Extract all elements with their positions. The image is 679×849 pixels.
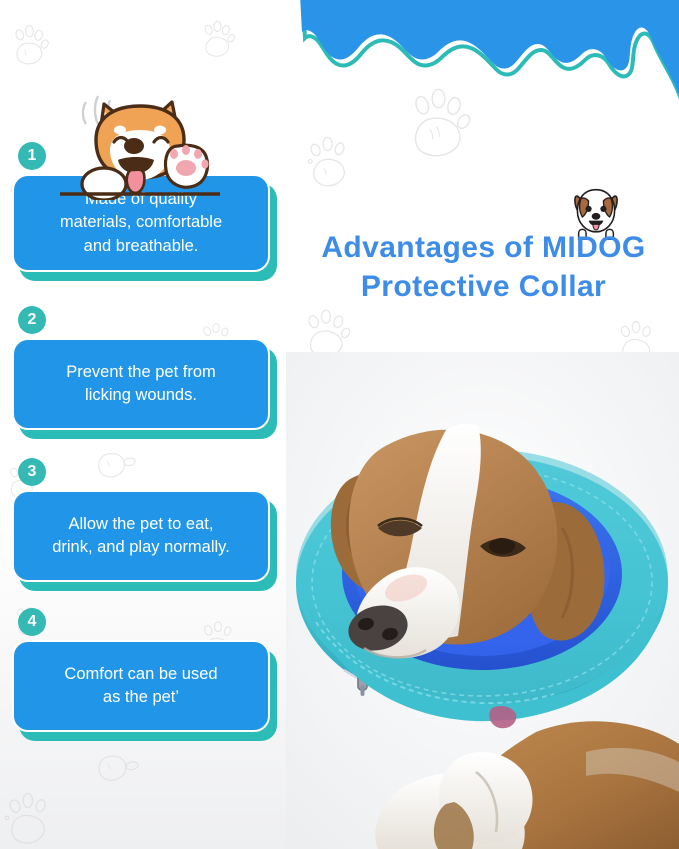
page-title: Advantages of MIDOG Protective Collar [288,228,679,306]
feature-text-line: as the pet’ [64,686,217,709]
feature-text-line: Prevent the pet from [66,361,216,384]
shiba-inu-dog-icon [60,88,220,200]
feature-item-4: 4 Comfort can be used as the pet’ [12,608,270,732]
feature-card-stack: Prevent the pet from licking wounds. [12,338,270,430]
paw-print-watermark [86,742,146,796]
title-line-1: Advantages of MIDOG [288,228,679,267]
feature-card[interactable]: Comfort can be used as the pet’ [12,640,270,732]
feature-text-line: drink, and play normally. [52,536,230,559]
feature-text-line: Comfort can be used [64,663,217,686]
feature-text-line: and breathable. [60,235,222,258]
feature-text-line: Allow the pet to eat, [52,513,230,536]
feature-card[interactable]: Allow the pet to eat, drink, and play no… [12,490,270,582]
feature-number-badge: 1 [18,142,46,170]
feature-text-line: licking wounds. [66,384,216,407]
paw-print-watermark [300,132,360,192]
feature-item-3: 3 Allow the pet to eat, drink, and play … [12,458,270,582]
infographic-page: Advantages of MIDOG Protective Collar [0,0,679,849]
paw-print-watermark [0,790,58,848]
dog-wearing-collar-illustration [286,352,679,849]
feature-text-line: materials, comfortable [60,211,222,234]
feature-card[interactable]: Prevent the pet from licking wounds. [12,338,270,430]
product-photo [286,352,679,849]
feature-card-stack: Allow the pet to eat, drink, and play no… [12,490,270,582]
feature-number-badge: 2 [18,306,46,334]
feature-number-badge: 4 [18,608,46,636]
feature-card-stack: Comfort can be used as the pet’ [12,640,270,732]
feature-item-2: 2 Prevent the pet from licking wounds. [12,306,270,430]
feature-number-badge: 3 [18,458,46,486]
title-line-2: Protective Collar [288,267,679,306]
